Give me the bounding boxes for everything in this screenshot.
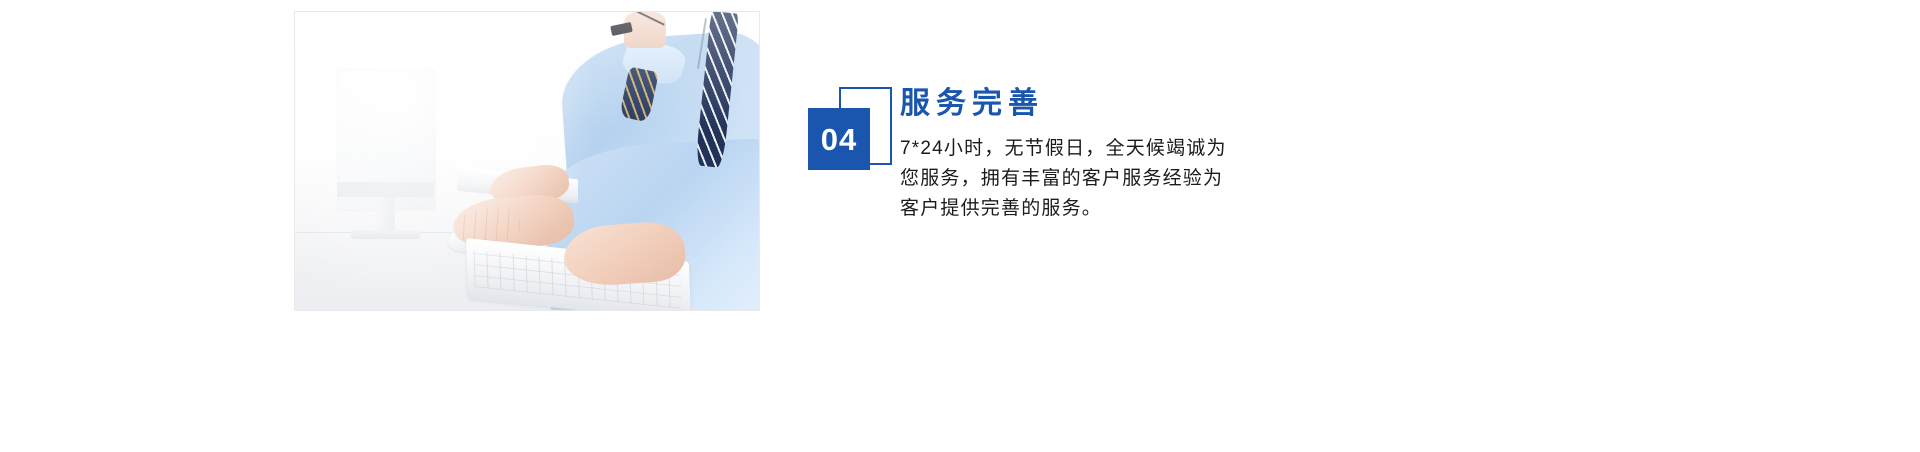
monitor-stand-base	[351, 230, 421, 240]
feature-description: 7*24小时，无节假日，全天候竭诚为 您服务，拥有丰富的客户服务经验为 客户提供…	[900, 134, 1302, 224]
description-line: 客户提供完善的服务。	[900, 194, 1302, 224]
badge-number-label: 04	[821, 124, 857, 155]
description-line: 7*24小时，无节假日，全天候竭诚为	[900, 134, 1302, 164]
feature-content: 04 服务完善 7*24小时，无节假日，全天候竭诚为 您服务，拥有丰富的客户服务…	[808, 86, 1508, 266]
description-line: 您服务，拥有丰富的客户服务经验为	[900, 164, 1302, 194]
feature-text-column: 服务完善 7*24小时，无节假日，全天候竭诚为 您服务，拥有丰富的客户服务经验为…	[900, 86, 1500, 224]
customer-service-photo	[295, 12, 759, 310]
monitor-stand-neck	[376, 197, 395, 233]
feature-photo-frame	[294, 11, 760, 311]
service-feature-banner: 04 服务完善 7*24小时，无节假日，全天候竭诚为 您服务，拥有丰富的客户服务…	[0, 0, 1920, 452]
badge-filled-square: 04	[808, 108, 870, 170]
monitor-bezel	[337, 182, 434, 197]
feature-number-badge: 04	[808, 100, 892, 184]
feature-heading: 服务完善	[900, 86, 1500, 122]
